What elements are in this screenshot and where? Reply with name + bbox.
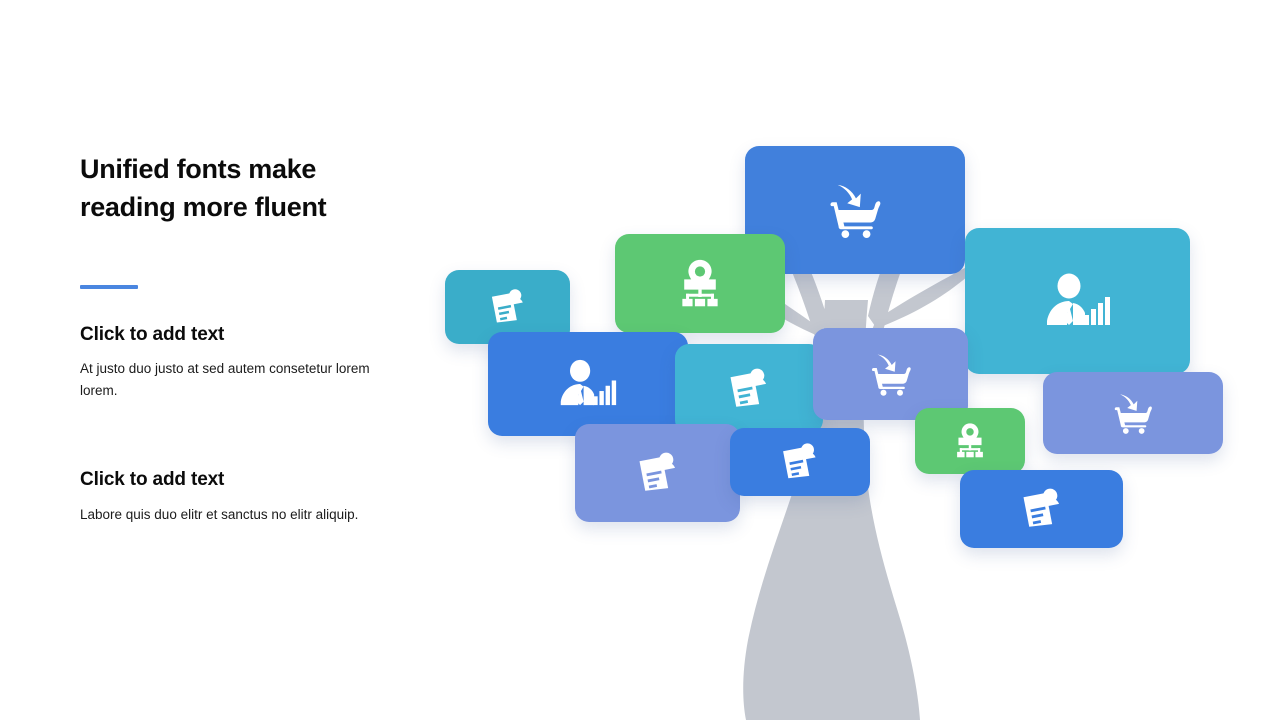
card-analyst-teal[interactable] <box>965 228 1190 374</box>
card-cart-peri-right[interactable] <box>1043 372 1223 454</box>
note-person-icon <box>1019 486 1065 532</box>
shopping-cart-icon <box>824 182 886 238</box>
card-analyst-blue[interactable] <box>488 332 688 436</box>
card-org-green[interactable] <box>615 234 785 333</box>
card-note-peri[interactable] <box>575 424 740 522</box>
note-person-icon <box>726 366 772 412</box>
text-block-2[interactable]: Click to add text Labore quis duo elitr … <box>80 468 400 526</box>
location-hierarchy-icon <box>951 422 989 460</box>
card-note-blue-2[interactable] <box>960 470 1123 548</box>
section-heading-2[interactable]: Click to add text <box>80 468 400 493</box>
businessman-chart-icon <box>1045 273 1111 329</box>
card-cart-peri[interactable] <box>813 328 968 420</box>
shopping-cart-icon <box>1110 392 1156 434</box>
text-block-1[interactable]: Click to add text At justo duo justo at … <box>80 323 400 402</box>
slide-canvas: Unified fonts make reading more fluent C… <box>0 0 1280 720</box>
knowledge-tree-illustration <box>420 0 1280 720</box>
note-person-icon <box>488 287 528 327</box>
card-note-teal-2[interactable] <box>675 344 823 434</box>
shopping-cart-icon <box>867 352 915 396</box>
text-column: Unified fonts make reading more fluent C… <box>80 150 400 526</box>
businessman-chart-icon <box>559 359 617 409</box>
note-person-icon <box>635 450 681 496</box>
accent-divider <box>80 285 138 289</box>
card-note-blue[interactable] <box>730 428 870 496</box>
section-body-1[interactable]: At justo duo justo at sed autem consetet… <box>80 358 382 402</box>
note-person-icon <box>779 441 821 483</box>
location-hierarchy-icon <box>674 258 726 310</box>
section-heading-1[interactable]: Click to add text <box>80 323 400 348</box>
card-org-green-2[interactable] <box>915 408 1025 474</box>
section-body-2[interactable]: Labore quis duo elitr et sanctus no elit… <box>80 504 382 526</box>
page-title: Unified fonts make reading more fluent <box>80 150 400 227</box>
